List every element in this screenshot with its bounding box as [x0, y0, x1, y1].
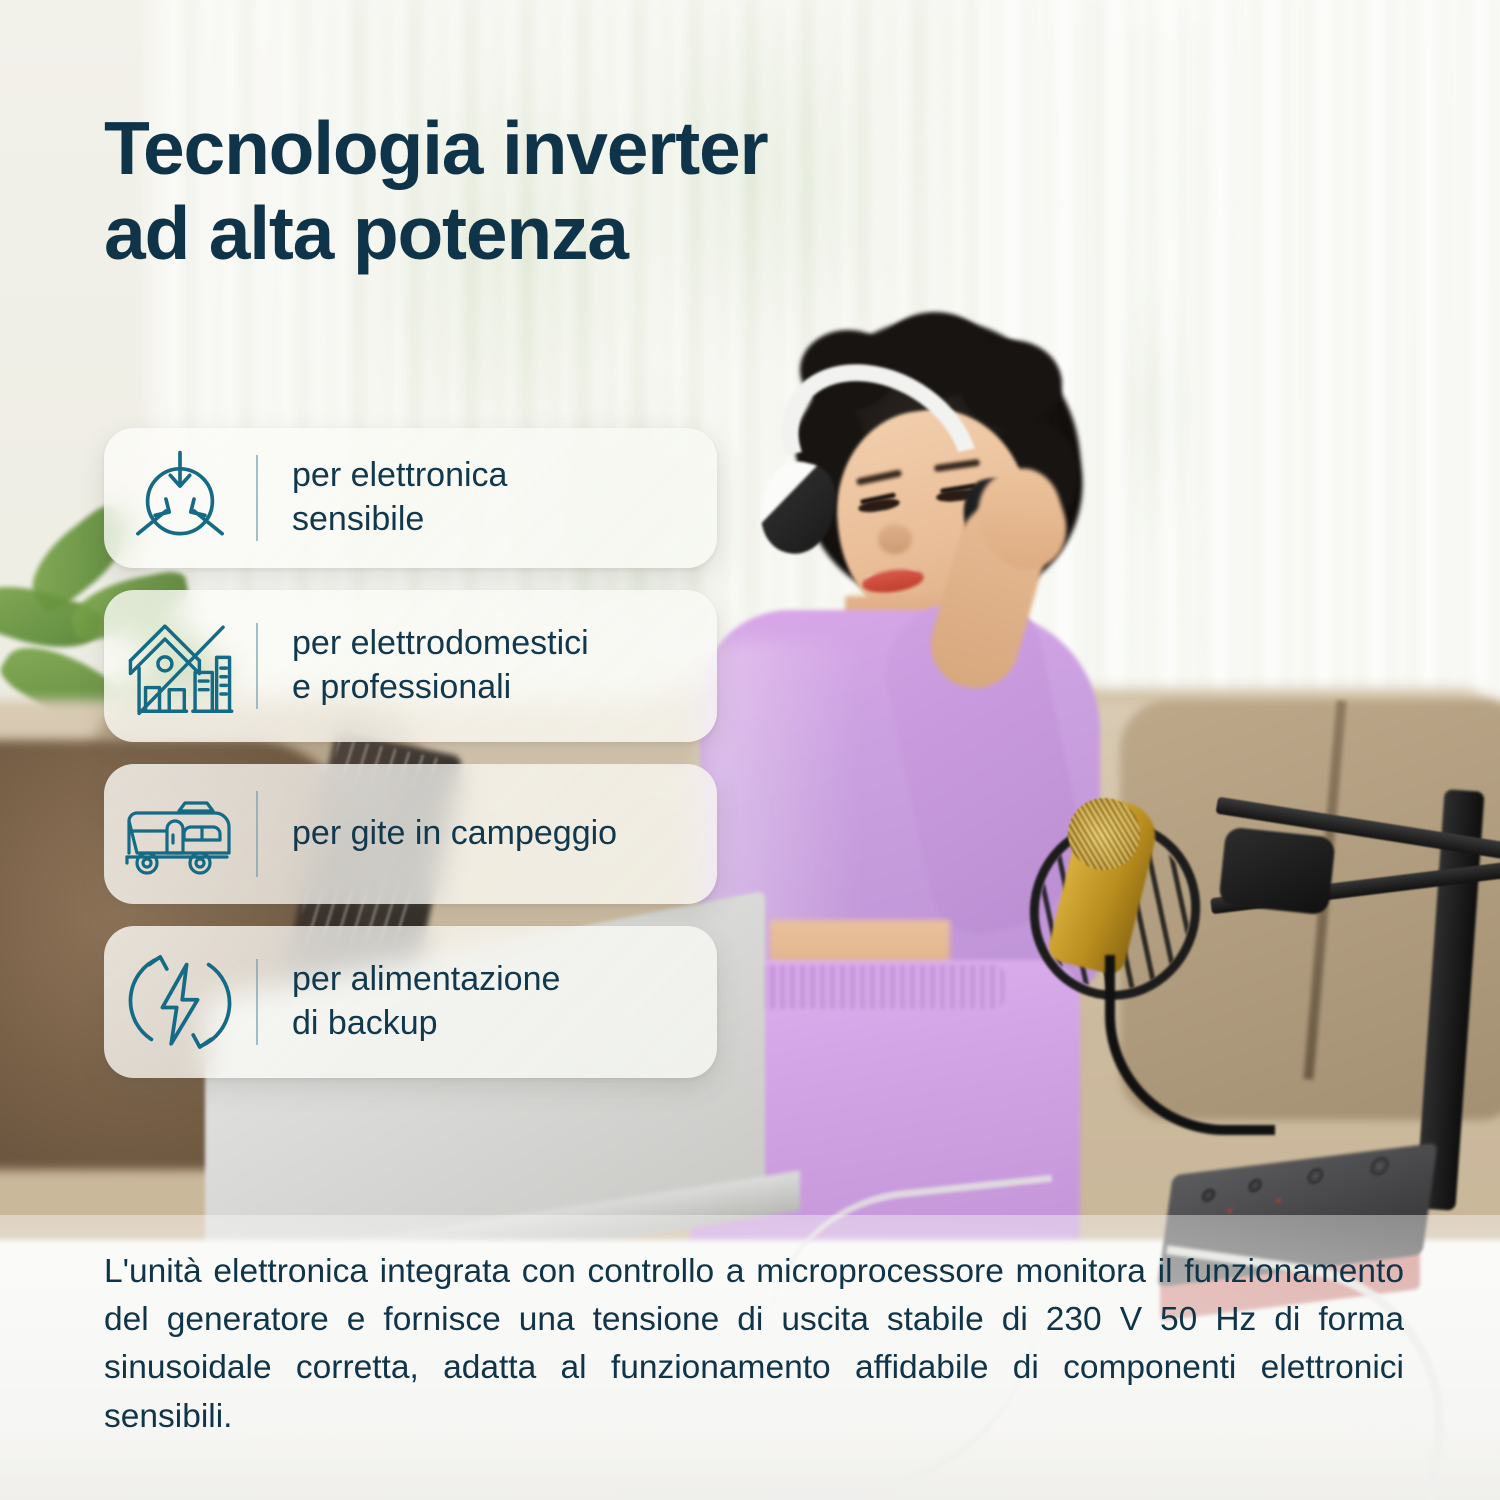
house-buildings-icon	[104, 612, 256, 720]
feature-card-sensitive-electronics[interactable]: per elettronica sensibile	[104, 428, 717, 568]
feature-label: per alimentazione di backup	[258, 958, 578, 1045]
feature-label: per gite in campeggio	[258, 812, 635, 856]
poster-content: Tecnologia inverter ad alta potenza	[0, 0, 1500, 1500]
feature-card-backup-power[interactable]: per alimentazione di backup	[104, 926, 717, 1078]
card-divider	[256, 959, 258, 1045]
card-divider	[256, 791, 258, 877]
lightning-cycle-icon	[104, 947, 256, 1057]
poster-root: Tecnologia inverter ad alta potenza	[0, 0, 1500, 1500]
card-divider	[256, 455, 258, 541]
page-title: Tecnologia inverter ad alta potenza	[104, 106, 767, 276]
feature-label: per elettronica sensibile	[258, 454, 525, 541]
feature-card-list: per elettronica sensibile	[104, 428, 717, 1078]
feature-card-appliances[interactable]: per elettrodomestici e professionali	[104, 590, 717, 742]
card-divider	[256, 623, 258, 709]
feature-card-camping[interactable]: per gite in campeggio	[104, 764, 717, 904]
caravan-icon	[104, 788, 256, 880]
body-paragraph: L'unità elettronica integrata con contro…	[104, 1248, 1404, 1441]
circle-inward-arrows-icon	[104, 444, 256, 552]
feature-label: per elettrodomestici e professionali	[258, 622, 607, 709]
